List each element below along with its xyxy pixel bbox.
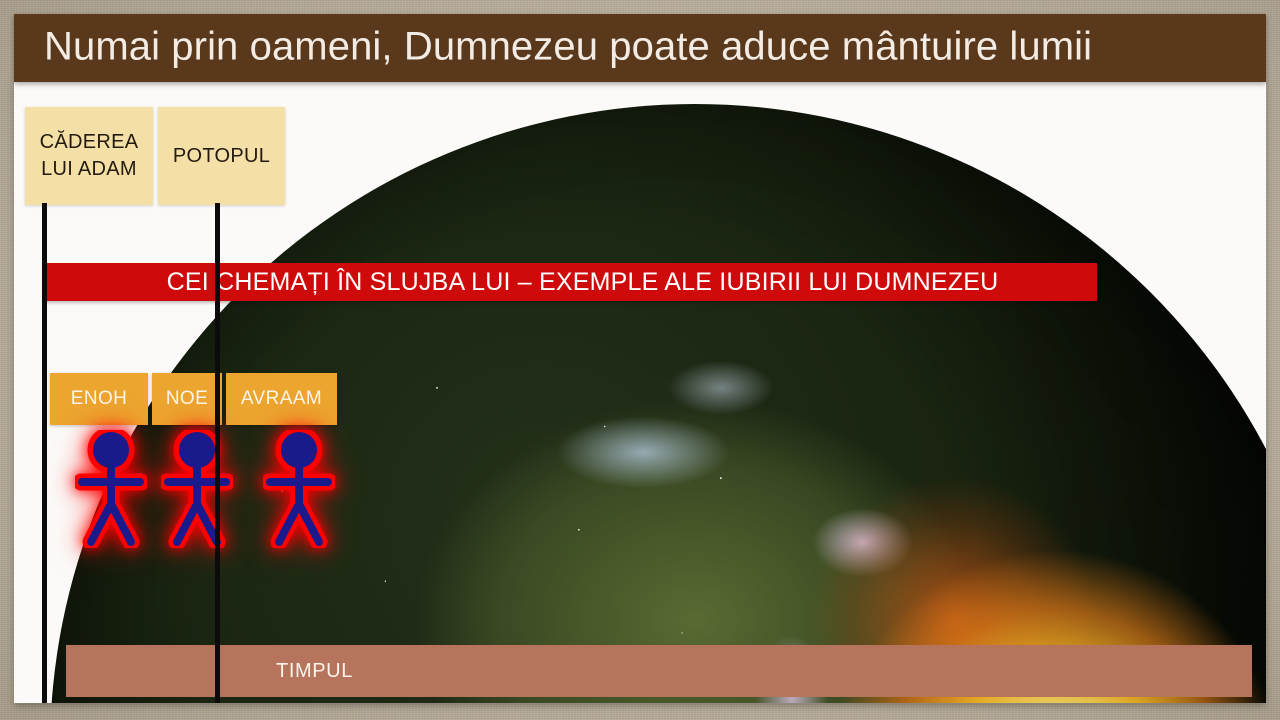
person-figure-icon-noe — [161, 430, 233, 548]
timeline-axis-bar: TIMPUL — [66, 645, 1252, 697]
person-label: NOE — [166, 388, 208, 410]
event-box-potopul[interactable]: POTOPUL — [158, 107, 285, 205]
red-callout-banner-text: CEI CHEMAȚI ÎN SLUJBA LUI – EXEMPLE ALE … — [167, 268, 999, 297]
timeline-marker-potopul — [215, 203, 220, 703]
event-label-line1: CĂDEREA — [40, 129, 139, 156]
timeline-marker-caderea-lui-adam — [42, 203, 47, 703]
person-box-avraam[interactable]: AVRAAM — [226, 373, 337, 425]
title-banner: Numai prin oameni, Dumnezeu poate aduce … — [14, 14, 1266, 82]
person-box-enoh[interactable]: ENOH — [50, 373, 148, 425]
person-label: AVRAAM — [241, 388, 322, 410]
red-callout-banner: CEI CHEMAȚI ÎN SLUJBA LUI – EXEMPLE ALE … — [44, 263, 1097, 301]
person-label: ENOH — [71, 388, 128, 410]
event-label-line2: LUI ADAM — [41, 156, 137, 183]
person-box-noe[interactable]: NOE — [152, 373, 222, 425]
person-figure-icon-avraam — [263, 430, 335, 548]
slide-content-panel: CĂDEREA LUI ADAM POTOPUL CEI CHEMAȚI ÎN … — [14, 82, 1266, 703]
timeline-axis-label: TIMPUL — [276, 660, 353, 683]
person-figure-icon-enoh — [75, 430, 147, 548]
event-box-caderea-lui-adam[interactable]: CĂDEREA LUI ADAM — [25, 107, 153, 205]
slide-root: Numai prin oameni, Dumnezeu poate aduce … — [0, 0, 1280, 720]
page-title: Numai prin oameni, Dumnezeu poate aduce … — [44, 25, 1092, 70]
event-label-line1: POTOPUL — [173, 143, 270, 170]
